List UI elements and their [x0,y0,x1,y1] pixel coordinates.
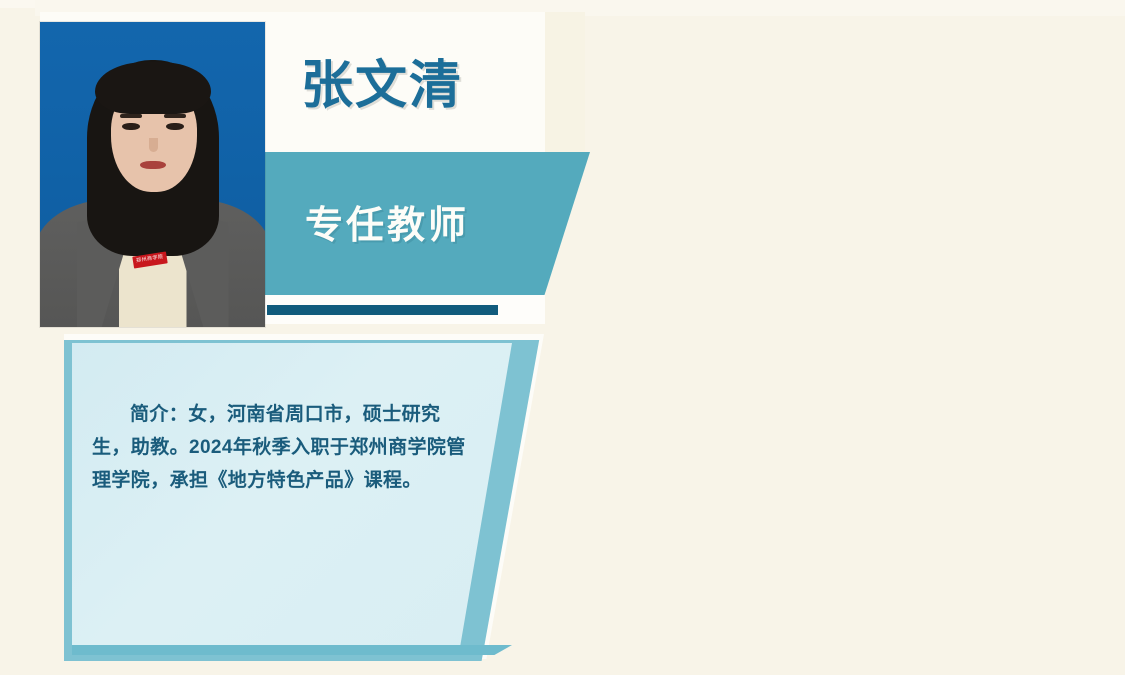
page-title: 张文清 [301,58,463,115]
role-label: 专任教师 [305,207,469,245]
name-badge-label: 郑州商学院 [132,253,167,265]
eyebrow-left [120,114,142,118]
nose [149,138,158,152]
bio-text: 简介：女，河南省周口市，硕士研究生，助教。2024年秋季入职于郑州商学院管理学院… [92,398,470,497]
bio-underline [72,645,512,655]
eye-left [122,123,140,130]
eye-right [166,123,184,130]
hair-fringe [95,62,211,114]
portrait-photo: 郑州商学院 [40,22,265,327]
bio-panel [72,343,512,652]
bottom-sliver [0,665,1125,675]
eyebrow-right [164,114,186,118]
mouth [140,161,166,169]
accent-rule [267,305,498,315]
profile-slide: 专任教师 张文清 郑州商学院 简介：女，河南省周口市，硕士研究生，助教。2024… [0,0,1125,675]
